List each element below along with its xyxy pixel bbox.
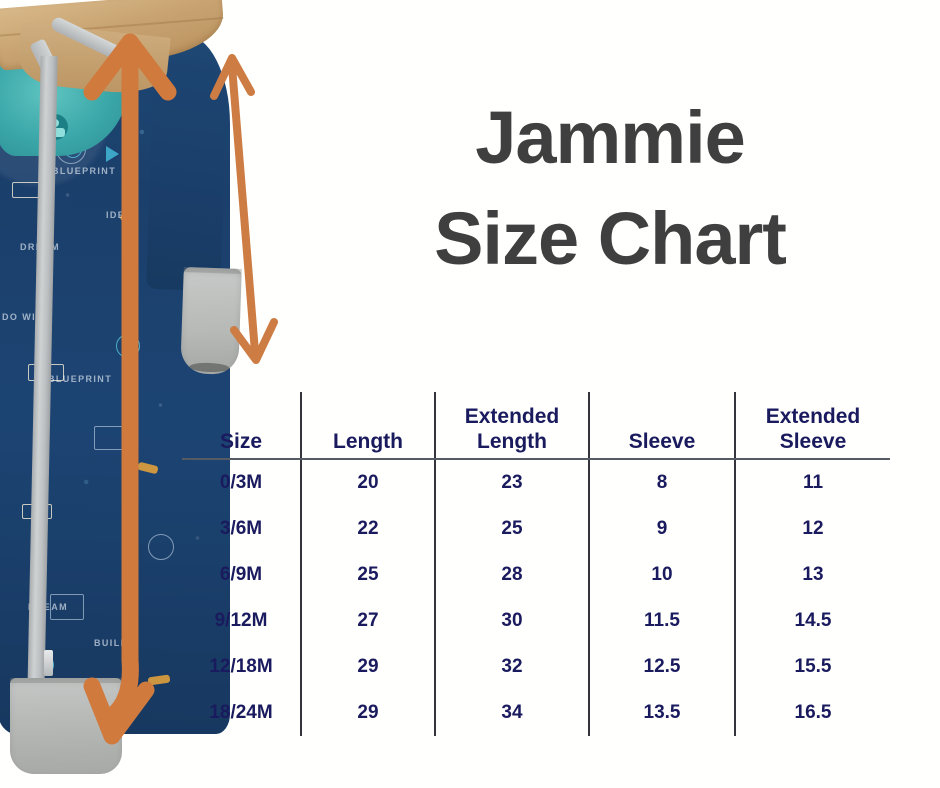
pajama-sleeve [146, 59, 228, 291]
cell-length: 22 [301, 506, 435, 552]
cell-extended-sleeve: 15.5 [735, 644, 890, 690]
cell-length: 20 [301, 459, 435, 506]
table-row: 12/18M 29 32 12.5 15.5 [182, 644, 890, 690]
title-line-2: Size Chart [300, 189, 920, 290]
table-row: 18/24M 29 34 13.5 16.5 [182, 690, 890, 736]
column-header-extended-length-line2: Length [477, 430, 547, 453]
table-header-row: Size Length Extended Length Sleeve Exten… [182, 392, 890, 459]
cell-size: 3/6M [182, 506, 301, 552]
cell-sleeve: 10 [589, 552, 735, 598]
table-body: 0/3M 20 23 8 11 3/6M 22 25 9 12 6/9M 25 … [182, 459, 890, 736]
cell-extended-length: 32 [435, 644, 589, 690]
table-row: 0/3M 20 23 8 11 [182, 459, 890, 506]
cell-extended-length: 23 [435, 459, 589, 506]
cell-sleeve: 8 [589, 459, 735, 506]
table-row: 9/12M 27 30 11.5 14.5 [182, 598, 890, 644]
column-header-extended-length-line1: Extended [465, 405, 560, 428]
column-header-sleeve: Sleeve [589, 392, 735, 459]
print-word: IDEA [106, 210, 133, 220]
cell-sleeve: 9 [589, 506, 735, 552]
sleeve-cuff [180, 267, 242, 375]
zipper-pull-icon [44, 650, 53, 676]
cell-sleeve: 11.5 [589, 598, 735, 644]
table-header: Size Length Extended Length Sleeve Exten… [182, 392, 890, 459]
size-chart-table-wrapper: Size Length Extended Length Sleeve Exten… [182, 392, 890, 732]
column-header-extended-length: Extended Length [435, 392, 589, 459]
cell-extended-sleeve: 13 [735, 552, 890, 598]
column-header-extended-sleeve-line2: Sleeve [780, 430, 847, 453]
cell-size: 18/24M [182, 690, 301, 736]
cell-size: 12/18M [182, 644, 301, 690]
cell-size: 0/3M [182, 459, 301, 506]
cell-length: 25 [301, 552, 435, 598]
title-line-1: Jammie [300, 88, 920, 189]
cell-extended-sleeve: 14.5 [735, 598, 890, 644]
cell-extended-sleeve: 16.5 [735, 690, 890, 736]
column-header-length: Length [301, 392, 435, 459]
size-chart-table: Size Length Extended Length Sleeve Exten… [182, 392, 890, 736]
print-motif-cog [116, 334, 140, 358]
cell-sleeve: 13.5 [589, 690, 735, 736]
column-header-size: Size [182, 392, 301, 459]
print-motif-battery [94, 426, 126, 450]
column-header-extended-sleeve: Extended Sleeve [735, 392, 890, 459]
print-word: BUILD [94, 638, 129, 648]
size-chart-canvas: BLUEPRINT BUILD DREAM IDEA WHAT IF YOU D… [0, 0, 940, 788]
cell-extended-length: 28 [435, 552, 589, 598]
cell-extended-length: 25 [435, 506, 589, 552]
cell-extended-length: 34 [435, 690, 589, 736]
cell-sleeve: 12.5 [589, 644, 735, 690]
cell-extended-sleeve: 11 [735, 459, 890, 506]
cell-length: 27 [301, 598, 435, 644]
cell-size: 9/12M [182, 598, 301, 644]
print-motif-ruler-arrow [106, 146, 119, 162]
cell-length: 29 [301, 644, 435, 690]
print-word: BLUEPRINT [48, 374, 112, 384]
cell-extended-length: 30 [435, 598, 589, 644]
cell-size: 6/9M [182, 552, 301, 598]
table-row: 3/6M 22 25 9 12 [182, 506, 890, 552]
cell-extended-sleeve: 12 [735, 506, 890, 552]
foot-cuff [10, 678, 122, 774]
print-word: BLUEPRINT [52, 166, 116, 176]
print-motif-bulb [148, 534, 174, 560]
page-title: Jammie Size Chart [300, 88, 920, 289]
column-header-extended-sleeve-line1: Extended [766, 405, 861, 428]
table-row: 6/9M 25 28 10 13 [182, 552, 890, 598]
cell-length: 29 [301, 690, 435, 736]
